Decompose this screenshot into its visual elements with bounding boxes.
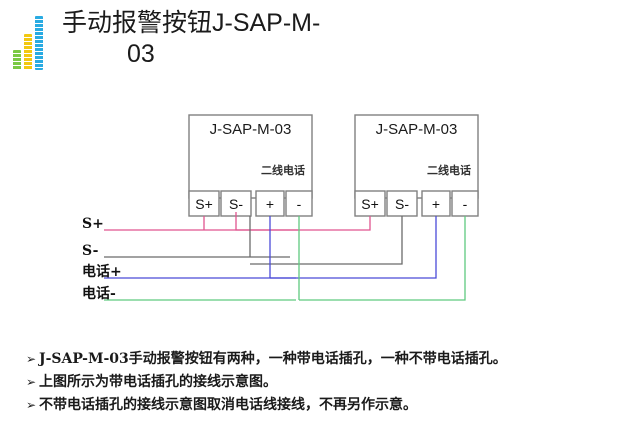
wire-phone-plus-right-riser [270, 216, 436, 278]
page-title-line1: 手动报警按钮J-SAP-M- [62, 9, 320, 37]
logo-bar-green [13, 50, 21, 70]
device-right-terminal-label-2: + [432, 196, 440, 212]
wiring-diagram: J-SAP-M-03 二线电话 S+ S- + - J-SAP-M-03 二线电… [0, 96, 642, 326]
device-right-title: J-SAP-M-03 [376, 121, 458, 138]
bar-chart-logo-icon [13, 14, 55, 70]
bus-label-phone-minus: 电话- [82, 285, 116, 302]
notes-list: ➢J-SAP-M-03手动报警按钮有两种，一种带电话插孔，一种不带电话插孔。 ➢… [26, 348, 636, 417]
device-right-terminal-label-1: S- [395, 196, 409, 212]
device-left-subtitle: 二线电话 [261, 163, 305, 177]
device-left-title: J-SAP-M-03 [210, 121, 292, 138]
device-box-right: J-SAP-M-03 二线电话 S+ S- + - [355, 115, 478, 216]
logo-bar-blue [35, 16, 43, 70]
logo-bar-yellow [24, 34, 32, 70]
device-right-terminal-label-0: S+ [361, 196, 379, 212]
bus-label-s-minus: S- [82, 243, 99, 259]
page-header: 手动报警按钮J-SAP-M- 03 [0, 0, 642, 96]
note-text-0: J-SAP-M-03手动报警按钮有两种，一种带电话插孔，一种不带电话插孔。 [39, 351, 507, 367]
wire-phone-minus-right-riser [299, 216, 465, 300]
note-text-1: 上图所示为带电话插孔的接线示意图。 [39, 374, 277, 390]
device-left-terminal-label-3: - [297, 196, 302, 212]
note-item-0: ➢J-SAP-M-03手动报警按钮有两种，一种带电话插孔，一种不带电话插孔。 [26, 348, 636, 371]
note-item-2: ➢不带电话插孔的接线示意图取消电话线接线，不再另作示意。 [26, 394, 636, 417]
note-bullet-icon: ➢ [26, 371, 39, 394]
note-bullet-icon: ➢ [26, 348, 39, 371]
device-left-terminal-label-1: S- [229, 196, 243, 212]
wire-phone-plus [104, 216, 436, 278]
device-right-terminal-label-3: - [463, 196, 468, 212]
device-box-left: J-SAP-M-03 二线电话 S+ S- + - [189, 115, 312, 216]
device-left-terminal-label-0: S+ [195, 196, 213, 212]
wire-phone-minus [104, 216, 465, 300]
note-text-2: 不带电话插孔的接线示意图取消电话线接线，不再另作示意。 [39, 397, 417, 413]
note-bullet-icon: ➢ [26, 394, 39, 417]
device-left-terminal-label-2: + [266, 196, 274, 212]
page-title: 手动报警按钮J-SAP-M- 03 [62, 8, 372, 70]
note-item-1: ➢上图所示为带电话插孔的接线示意图。 [26, 371, 636, 394]
wire-s-minus [104, 216, 402, 264]
bus-label-phone-plus: 电话+ [82, 263, 122, 280]
bus-label-s-plus: S+ [82, 216, 104, 232]
device-right-subtitle: 二线电话 [427, 163, 471, 177]
page-title-line2: 03 [62, 39, 372, 70]
